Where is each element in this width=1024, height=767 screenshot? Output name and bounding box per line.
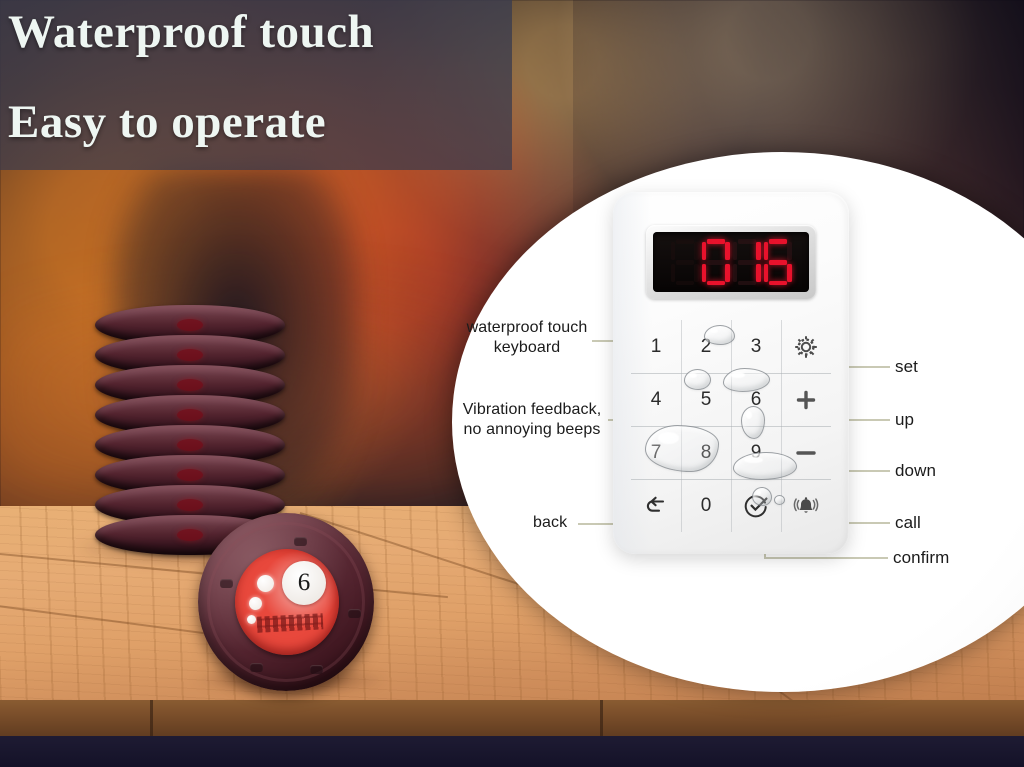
display-digit-blank <box>671 239 699 285</box>
callout-confirm: confirm <box>893 548 949 568</box>
product-infographic: 6 Waterproof touch Easy to operate 12345… <box>0 0 1024 767</box>
key-label: 0 <box>701 495 712 517</box>
key-3[interactable]: 3 <box>731 320 781 373</box>
display-segment <box>769 239 787 244</box>
display-segment <box>676 260 694 265</box>
display-segment <box>702 264 707 282</box>
headline-line-1: Waterproof touch <box>8 5 374 59</box>
plus-icon <box>793 387 819 413</box>
display-segment <box>694 242 699 260</box>
pager-led <box>257 575 274 592</box>
display-segment <box>769 260 787 265</box>
display-segment <box>738 239 756 244</box>
table-front-edge <box>0 700 1024 738</box>
touch-keypad: 1234567890 <box>631 320 831 532</box>
display-digit <box>733 239 761 285</box>
pager-led <box>247 615 256 624</box>
display-segment <box>707 260 725 265</box>
pager-number: 6 <box>282 561 326 605</box>
coaster-pager: 6 <box>198 513 374 691</box>
key-set[interactable] <box>781 320 831 373</box>
display-segment <box>725 264 730 282</box>
display-segment <box>787 264 792 282</box>
leader-confirm <box>764 557 888 559</box>
display-segment <box>725 242 730 260</box>
callout-back: back <box>533 514 567 532</box>
callout-down: down <box>895 461 936 481</box>
pager-led <box>249 597 262 610</box>
display-segment <box>671 242 676 260</box>
callout-up: up <box>895 410 914 430</box>
water-droplet <box>741 406 765 439</box>
display-segment <box>733 242 738 260</box>
display-digit <box>764 239 792 285</box>
display-segment <box>702 242 707 260</box>
display-segment <box>738 281 756 286</box>
display-segment <box>671 264 676 282</box>
pager-notch <box>294 537 307 546</box>
display-segment <box>764 264 769 282</box>
display-segment <box>676 281 694 286</box>
callout-vibration-feedback: Vibration feedback, no annoying beeps <box>458 400 606 440</box>
water-droplet <box>752 487 772 506</box>
display-segment <box>707 281 725 286</box>
pager-printed-text <box>257 613 324 632</box>
pager-notch <box>220 579 233 588</box>
key-up[interactable] <box>781 373 831 426</box>
table-edge-seam <box>150 700 153 738</box>
water-droplet <box>684 369 711 390</box>
display-segment <box>756 264 761 282</box>
display-segment <box>676 239 694 244</box>
back-arrow-icon <box>643 493 669 519</box>
callout-waterproof-keyboard: waterproof touch keyboard <box>462 318 592 358</box>
headline-overlay-panel: Waterproof touch Easy to operate <box>0 0 512 170</box>
display-bezel <box>646 225 816 299</box>
led-display <box>653 232 809 292</box>
key-call[interactable] <box>781 479 831 532</box>
minus-icon <box>793 440 819 466</box>
display-segment <box>694 264 699 282</box>
gear-icon <box>793 334 819 360</box>
key-label: 4 <box>651 389 662 411</box>
pager-face: 6 <box>235 549 339 655</box>
callout-set: set <box>895 357 918 377</box>
key-1[interactable]: 1 <box>631 320 681 373</box>
key-label: 1 <box>651 336 662 358</box>
water-droplet <box>704 325 735 345</box>
display-segment <box>756 242 761 260</box>
key-back[interactable] <box>631 479 681 532</box>
display-segment <box>733 264 738 282</box>
pager-notch <box>250 663 263 672</box>
key-4[interactable]: 4 <box>631 373 681 426</box>
callout-call: call <box>895 513 921 533</box>
display-segment <box>764 242 769 260</box>
display-segment <box>769 281 787 286</box>
display-digit <box>702 239 730 285</box>
display-segment <box>787 242 792 260</box>
key-confirm[interactable] <box>731 479 781 532</box>
key-0[interactable]: 0 <box>681 479 731 532</box>
pager-notch <box>310 665 323 674</box>
display-segment <box>707 239 725 244</box>
headline-line-2: Easy to operate <box>8 95 326 149</box>
key-label: 5 <box>701 389 712 411</box>
bell-icon <box>793 493 819 519</box>
water-droplet-small <box>774 495 785 505</box>
display-segment <box>738 260 756 265</box>
key-label: 3 <box>751 336 762 358</box>
floor-area <box>0 736 1024 767</box>
table-edge-seam <box>600 700 603 738</box>
pager-notch <box>348 609 361 618</box>
